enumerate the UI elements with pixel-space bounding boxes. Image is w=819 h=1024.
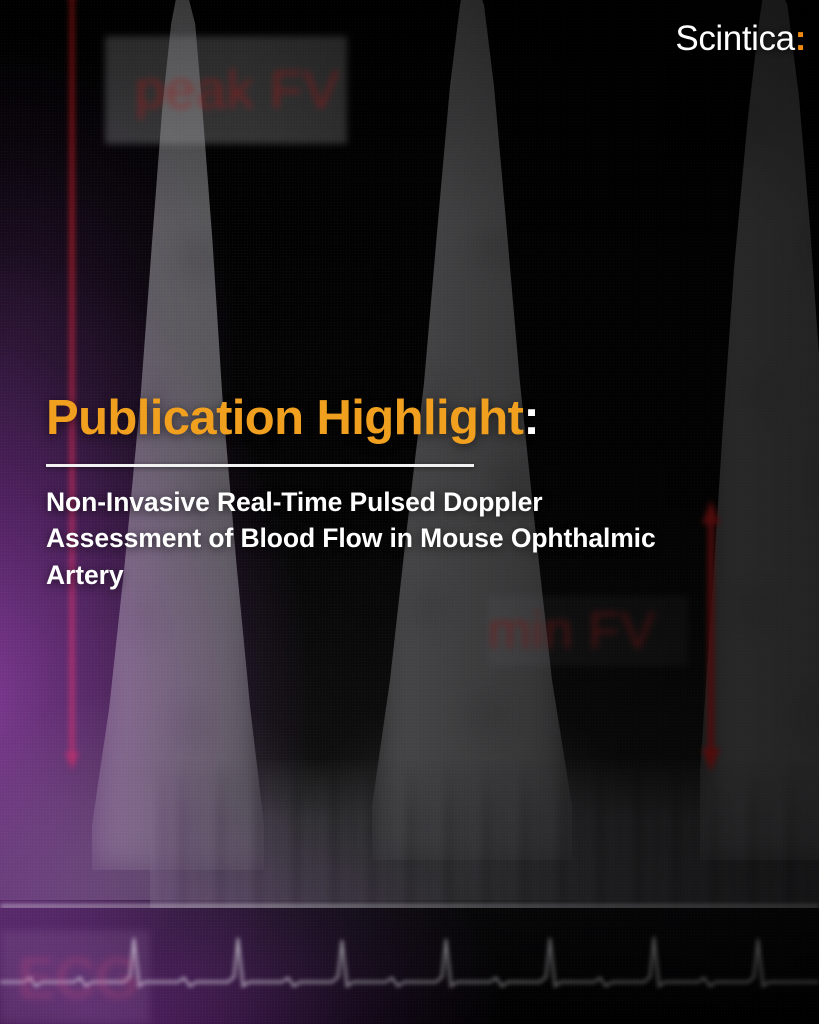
annotation-min-fv-label: min FV	[488, 601, 656, 661]
publication-subtitle: Non-Invasive Real-Time Pulsed Doppler As…	[46, 484, 664, 594]
scintica-logo-wordmark: Scintica	[675, 19, 794, 58]
annotation-peak-fv-label: peak FV	[135, 59, 340, 121]
page-title: Publication Highlight:	[46, 392, 706, 445]
title-divider-rule	[46, 464, 474, 467]
peak-fv-arrow	[64, 0, 80, 770]
hero-text-block: Publication Highlight: Non-Invasive Real…	[46, 392, 706, 594]
page-title-colon: :	[523, 391, 539, 445]
page-title-text: Publication Highlight	[46, 391, 523, 445]
annotation-ecg-label: ECG	[18, 945, 139, 1010]
annotation-min-fv: min FV	[488, 596, 688, 666]
annotation-peak-fv: peak FV	[105, 36, 347, 144]
scintica-logo-colon: :	[795, 19, 806, 58]
annotation-ecg: ECG	[0, 930, 150, 1024]
publication-highlight-card: peak FV min FV ECG Publication Highlight…	[0, 0, 819, 1024]
scintica-logo[interactable]: Scintica:	[675, 19, 806, 59]
